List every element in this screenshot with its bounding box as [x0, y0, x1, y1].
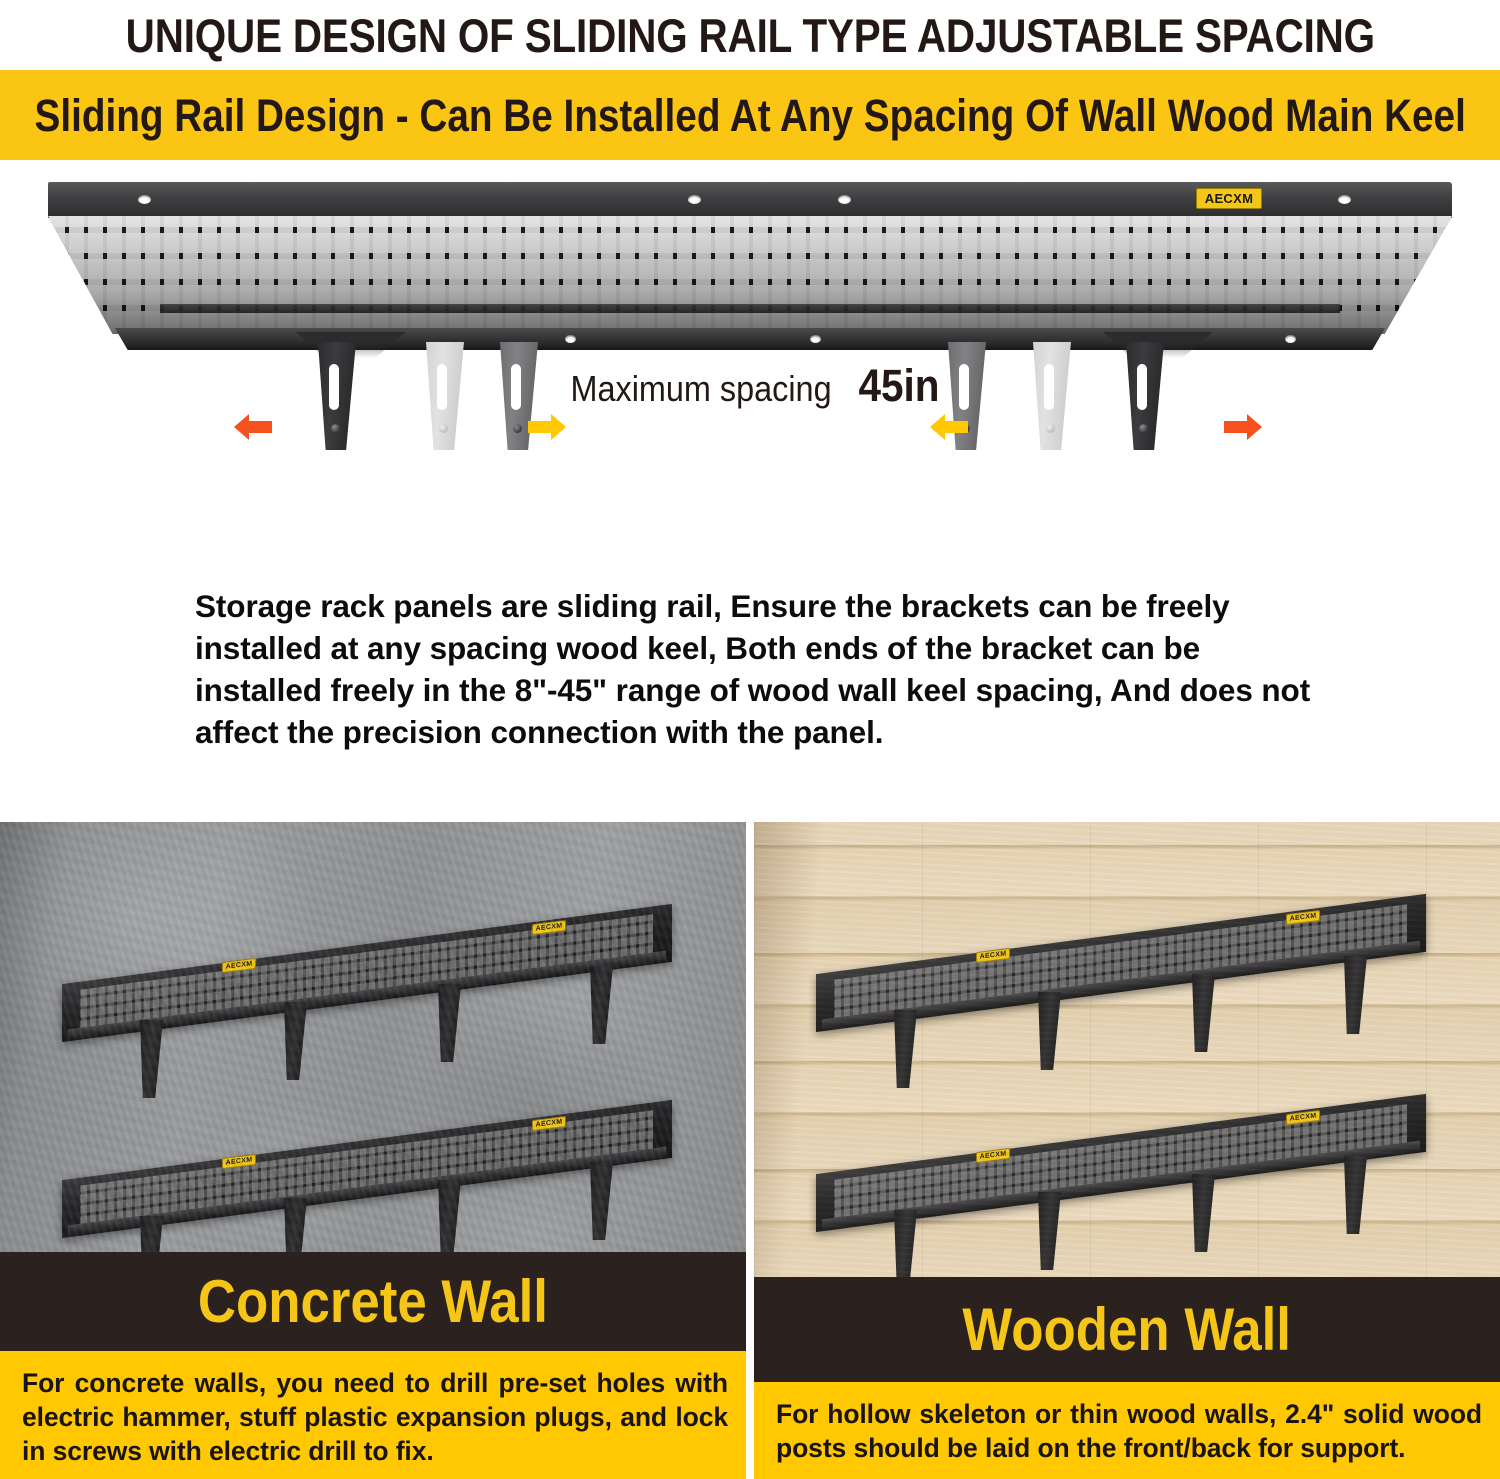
page-title: UNIQUE DESIGN OF SLIDING RAIL TYPE ADJUS… [125, 12, 1374, 59]
mounting-hole [138, 195, 151, 204]
bracket-screw [331, 424, 340, 433]
max-spacing-annotation: Maximum spacing45in [0, 360, 1500, 412]
brand-badge: AECXM [1196, 188, 1262, 209]
shelf-bracket [1192, 1174, 1215, 1252]
wooden-wall-banner: Wooden Wall [754, 1277, 1500, 1382]
shelf-bracket [284, 1198, 307, 1252]
hero-product-diagram: AECXM [0, 160, 1500, 580]
rack-mesh-deck [48, 216, 1452, 334]
arrow-right-outer-icon [1222, 410, 1264, 444]
concrete-wall-caption-box: For concrete walls, you need to drill pr… [0, 1351, 746, 1479]
shelf-bracket [140, 1216, 163, 1252]
storage-rack-illustration: AECXM [48, 182, 1452, 382]
wooden-wall-banner-text: Wooden Wall [963, 1300, 1292, 1360]
description-paragraph: Storage rack panels are sliding rail, En… [0, 580, 1500, 754]
shelf-bracket [1192, 974, 1215, 1052]
max-spacing-label: Maximum spacing [570, 368, 831, 410]
shelf-bracket [894, 1210, 917, 1277]
subtitle-text: Sliding Rail Design - Can Be Installed A… [34, 93, 1465, 138]
wall-shelf-lower: AECXM AECXM [62, 1140, 672, 1210]
wooden-wall-caption-text: For hollow skeleton or thin wood walls, … [776, 1398, 1482, 1466]
sliding-rail [160, 304, 1339, 313]
page-title-bar: UNIQUE DESIGN OF SLIDING RAIL TYPE ADJUS… [0, 0, 1500, 70]
shelf-bracket [894, 1010, 917, 1088]
wall-shelf-lower: AECXM AECXM [816, 1134, 1426, 1204]
concrete-wall-caption-text: For concrete walls, you need to drill pr… [22, 1367, 728, 1469]
bracket-screw [513, 424, 522, 433]
panel-concrete-wall: AECXM AECXM AECXM AECXM Concrete Wall [0, 822, 746, 1479]
bracket-screw [439, 424, 448, 433]
wall-type-panels: AECXM AECXM AECXM AECXM Concrete Wall [0, 822, 1500, 1479]
arrow-left-outer-icon [232, 410, 274, 444]
rack-back-rail: AECXM [48, 182, 1452, 218]
concrete-wall-banner-text: Concrete Wall [198, 1272, 548, 1332]
mounting-hole [838, 195, 851, 204]
shelf-bracket [590, 966, 613, 1044]
arrow-right-inner-left-icon [526, 410, 568, 444]
mounting-hole [688, 195, 701, 204]
shelf-bracket [1344, 1156, 1367, 1234]
concrete-wall-banner: Concrete Wall [0, 1252, 746, 1351]
shelf-bracket [1344, 956, 1367, 1034]
max-spacing-value: 45in [859, 360, 940, 412]
concrete-wall-photo: AECXM AECXM AECXM AECXM [0, 822, 746, 1252]
wooden-wall-caption-box: For hollow skeleton or thin wood walls, … [754, 1382, 1500, 1479]
bracket-screw [1046, 424, 1055, 433]
panel-wooden-wall: AECXM AECXM AECXM AECXM Wooden Wall [754, 822, 1500, 1479]
mounting-hole [1338, 195, 1351, 204]
shelf-bracket [1038, 992, 1061, 1070]
wooden-wall-photo: AECXM AECXM AECXM AECXM [754, 822, 1500, 1277]
shelf-bracket [590, 1162, 613, 1240]
shelf-bracket [140, 1020, 163, 1098]
mesh-grid-pattern [48, 216, 1452, 334]
wall-shelf-upper: AECXM AECXM [62, 944, 672, 1014]
mounting-hole [565, 335, 576, 343]
arrow-left-inner-right-icon [928, 410, 970, 444]
subtitle-banner: Sliding Rail Design - Can Be Installed A… [0, 70, 1500, 160]
shelf-bracket [438, 984, 461, 1062]
bracket-screw [1139, 424, 1148, 433]
wall-shelf-upper: AECXM AECXM [816, 934, 1426, 1004]
shelf-bracket [284, 1002, 307, 1080]
shelf-bracket [438, 1180, 461, 1252]
mounting-hole [1285, 335, 1296, 343]
mounting-hole [810, 335, 821, 343]
shelf-bracket [1038, 1192, 1061, 1270]
